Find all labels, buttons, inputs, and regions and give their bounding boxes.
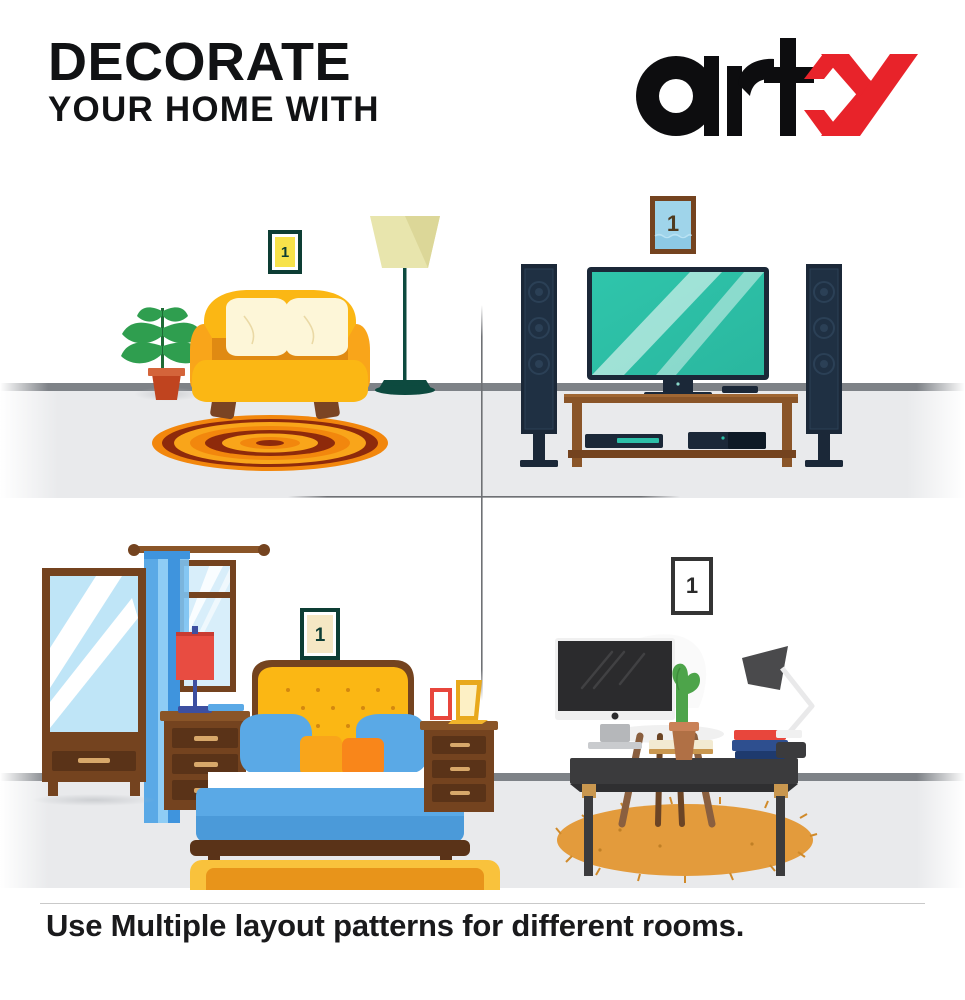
page-title: DECORATE YOUR HOME WITH: [48, 36, 380, 127]
poster-root: DECORATE YOUR HOME WITH: [0, 0, 965, 1000]
standing-mirror[interactable]: [32, 568, 156, 806]
wall-frame-bedroom[interactable]: 1: [300, 608, 340, 660]
floor-lamp[interactable]: [370, 216, 440, 395]
rooms-svg: 1: [0, 168, 965, 890]
frame-label-home-office: 1: [686, 573, 698, 598]
media-player[interactable]: [585, 434, 663, 448]
logo-letter-a: [636, 56, 719, 136]
sofa[interactable]: [190, 290, 370, 420]
scene-home-office[interactable]: 1: [555, 557, 817, 883]
photo-frames: [430, 680, 488, 724]
frame-label-tv-room: 1: [667, 211, 679, 236]
book-stack: [208, 704, 244, 711]
footer-divider: [40, 903, 925, 904]
accent-cushion: [342, 738, 384, 776]
divider-horizontal: [288, 496, 680, 498]
television[interactable]: [587, 267, 769, 399]
footer-caption: Use Multiple layout patterns for differe…: [46, 908, 744, 944]
nightstand-right[interactable]: [420, 721, 498, 812]
table-lamp[interactable]: [176, 626, 214, 713]
headline-line-2: YOUR HOME WITH: [48, 93, 380, 127]
desk-lamp[interactable]: [742, 646, 812, 738]
wall-frame-living-room[interactable]: 1: [268, 230, 302, 274]
game-console[interactable]: [688, 432, 766, 449]
artx-logo-svg: [628, 38, 923, 138]
accent-cushion: [300, 736, 342, 776]
brand-logo: [628, 38, 923, 138]
wall-frame-home-office[interactable]: 1: [671, 557, 713, 615]
desk-organizer: [776, 742, 806, 758]
remote-control[interactable]: [722, 386, 758, 393]
logo-letter-x: [804, 54, 918, 136]
wall-frame-tv-room[interactable]: 1: [650, 196, 696, 254]
round-rug: [152, 415, 388, 471]
area-rug: [190, 860, 500, 890]
room-illustrations: 1: [0, 168, 965, 890]
divider-vertical: [481, 305, 483, 701]
frame-label-living-room: 1: [281, 244, 289, 261]
headline-line-1: DECORATE: [48, 36, 380, 89]
throw-pillow: [226, 298, 288, 356]
throw-pillow: [286, 298, 348, 356]
frame-label-bedroom: 1: [315, 625, 326, 646]
logo-letter-t: [764, 38, 814, 136]
